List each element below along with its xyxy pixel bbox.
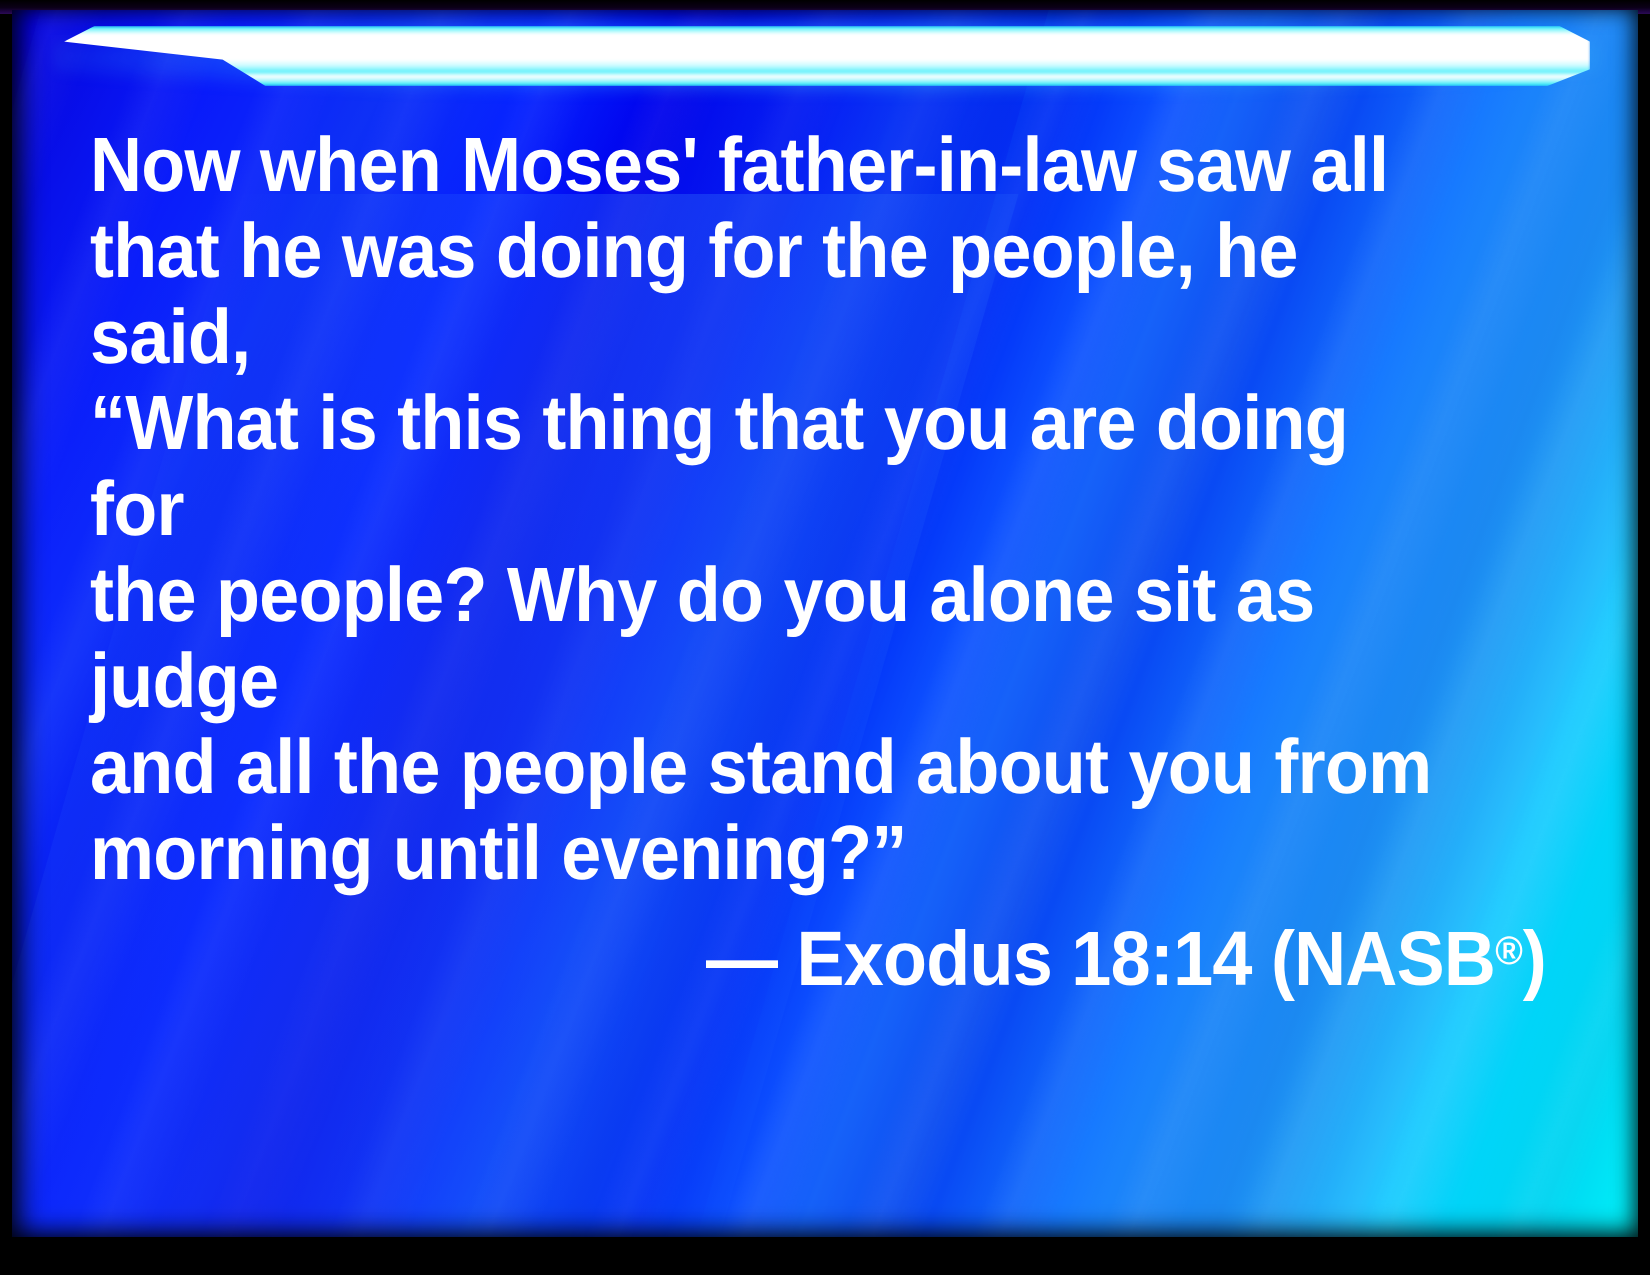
registered-trademark-icon: ® [1495,929,1523,973]
attribution-translation-close: ) [1523,916,1546,1002]
header-bar-core [64,26,1590,86]
verse-block: Now when Moses' father-in-law saw all th… [90,122,1546,1004]
attribution-translation-open: (NASB [1271,916,1495,1002]
verse-line-6: morning until evening?” [90,810,1451,896]
verse-attribution: — Exodus 18:14 (NASB®) [185,906,1546,1004]
verse-line-4: the people? Why do you alone sit as judg… [90,552,1451,724]
attribution-chapter-verse: 18:14 [1071,916,1251,1002]
verse-line-5: and all the people stand about you from [90,724,1451,810]
header-light-bar [64,26,1590,86]
verse-slide: Now when Moses' father-in-law saw all th… [0,0,1650,1275]
gradient-canvas: Now when Moses' father-in-law saw all th… [12,10,1638,1237]
attribution-dash: — [706,916,777,1002]
verse-line-3: “What is this thing that you are doing f… [90,380,1451,552]
verse-line-2: that he was doing for the people, he sai… [90,208,1451,380]
header-bar-glow [54,20,1600,94]
verse-line-1: Now when Moses' father-in-law saw all [90,122,1451,208]
attribution-book: Exodus [796,916,1052,1002]
